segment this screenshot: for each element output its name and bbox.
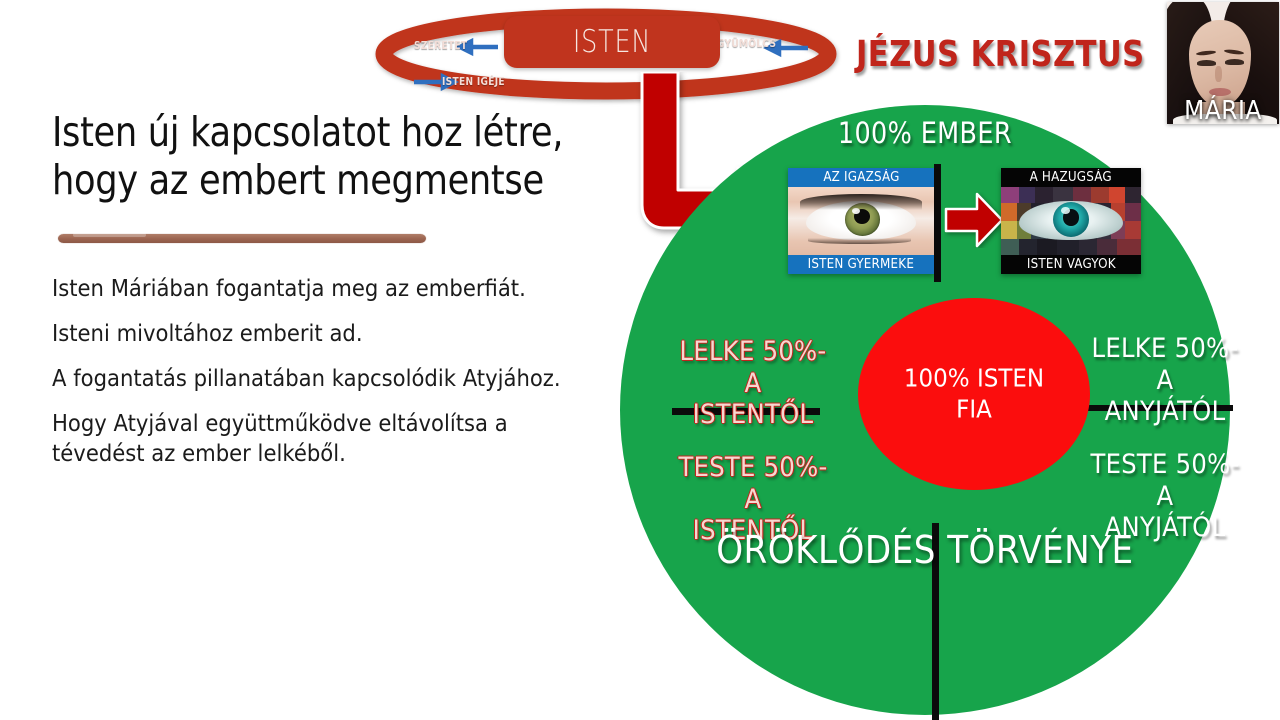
card-lie-top-caption: A HAZUGSÁG bbox=[1001, 168, 1141, 187]
card-az-igazsag: AZ IGAZSÁG ISTEN GYERMEKE bbox=[788, 168, 934, 274]
circle-top-label-text: 100% EMBER bbox=[838, 116, 1012, 150]
quadrant-label-right-bottom: TESTE 50%-A ANYJÁTÓL bbox=[1082, 418, 1248, 543]
divider-vertical-top bbox=[934, 164, 941, 282]
maria-portrait-photo: MÁRIA bbox=[1167, 2, 1279, 124]
list-item: Isteni mivoltához emberit ad. bbox=[52, 319, 601, 348]
eye-lower-lashes bbox=[808, 238, 910, 244]
list-item: A fogantatás pillanatában kapcsolódik At… bbox=[52, 364, 601, 393]
isten-box: ISTEN bbox=[504, 16, 720, 68]
natural-eye-image bbox=[788, 187, 934, 255]
circle-bottom-label: ÖRÖKLŐDÉS TÖRVÉNYE bbox=[620, 528, 1230, 572]
quadrant-label-left-top: LELKE 50%-A ISTENTŐL bbox=[668, 305, 838, 430]
lips bbox=[1209, 88, 1231, 96]
loop-label-gyumolcs: GYÜMÖLCS bbox=[717, 37, 776, 50]
circle-bottom-label-text: ÖRÖKLŐDÉS TÖRVÉNYE bbox=[716, 528, 1133, 572]
bullet-list: Isten Máriában fogantatja meg az emberfi… bbox=[52, 274, 662, 484]
card-truth-top-caption: AZ IGAZSÁG bbox=[788, 168, 934, 187]
small-arrow-icon bbox=[944, 192, 1004, 248]
mosaic-eye-image bbox=[1001, 187, 1141, 255]
page-title: Isten új kapcsolatot hoz létre, hogy az … bbox=[52, 108, 568, 205]
card-lie-bottom-caption: ISTEN VAGYOK bbox=[1001, 255, 1141, 274]
slide-canvas: Isten új kapcsolatot hoz létre, hogy az … bbox=[0, 0, 1280, 720]
eye-highlight bbox=[1061, 207, 1069, 214]
eye-right bbox=[1225, 59, 1244, 65]
list-item: Isten Máriában fogantatja meg az emberfi… bbox=[52, 274, 601, 303]
list-item: Hogy Atyjával együttműködve eltávolítsa … bbox=[52, 409, 601, 467]
card-truth-bottom-caption: ISTEN GYERMEKE bbox=[788, 255, 934, 274]
center-red-circle: 100% ISTEN FIA bbox=[858, 298, 1090, 490]
eye-left bbox=[1197, 60, 1216, 66]
quadrant-label-right-top: LELKE 50%-A ANYJÁTÓL bbox=[1082, 302, 1248, 427]
loop-label-isten-igeje: ISTEN IGÉJE bbox=[442, 75, 505, 88]
circle-top-label: 100% EMBER bbox=[620, 116, 1230, 150]
nose bbox=[1215, 66, 1222, 82]
center-red-circle-label: 100% ISTEN FIA bbox=[867, 364, 1080, 425]
eye-upper-lashes bbox=[800, 194, 923, 210]
loop-label-szeretet: SZERETET bbox=[414, 39, 467, 52]
isten-box-label: ISTEN bbox=[523, 16, 700, 68]
title-underline-brushstroke bbox=[58, 234, 426, 243]
jezus-krisztus-label: JÉZUS KRISZTUS bbox=[856, 34, 1145, 75]
card-a-hazugsag: A HAZUGSÁG bbox=[1001, 168, 1141, 274]
